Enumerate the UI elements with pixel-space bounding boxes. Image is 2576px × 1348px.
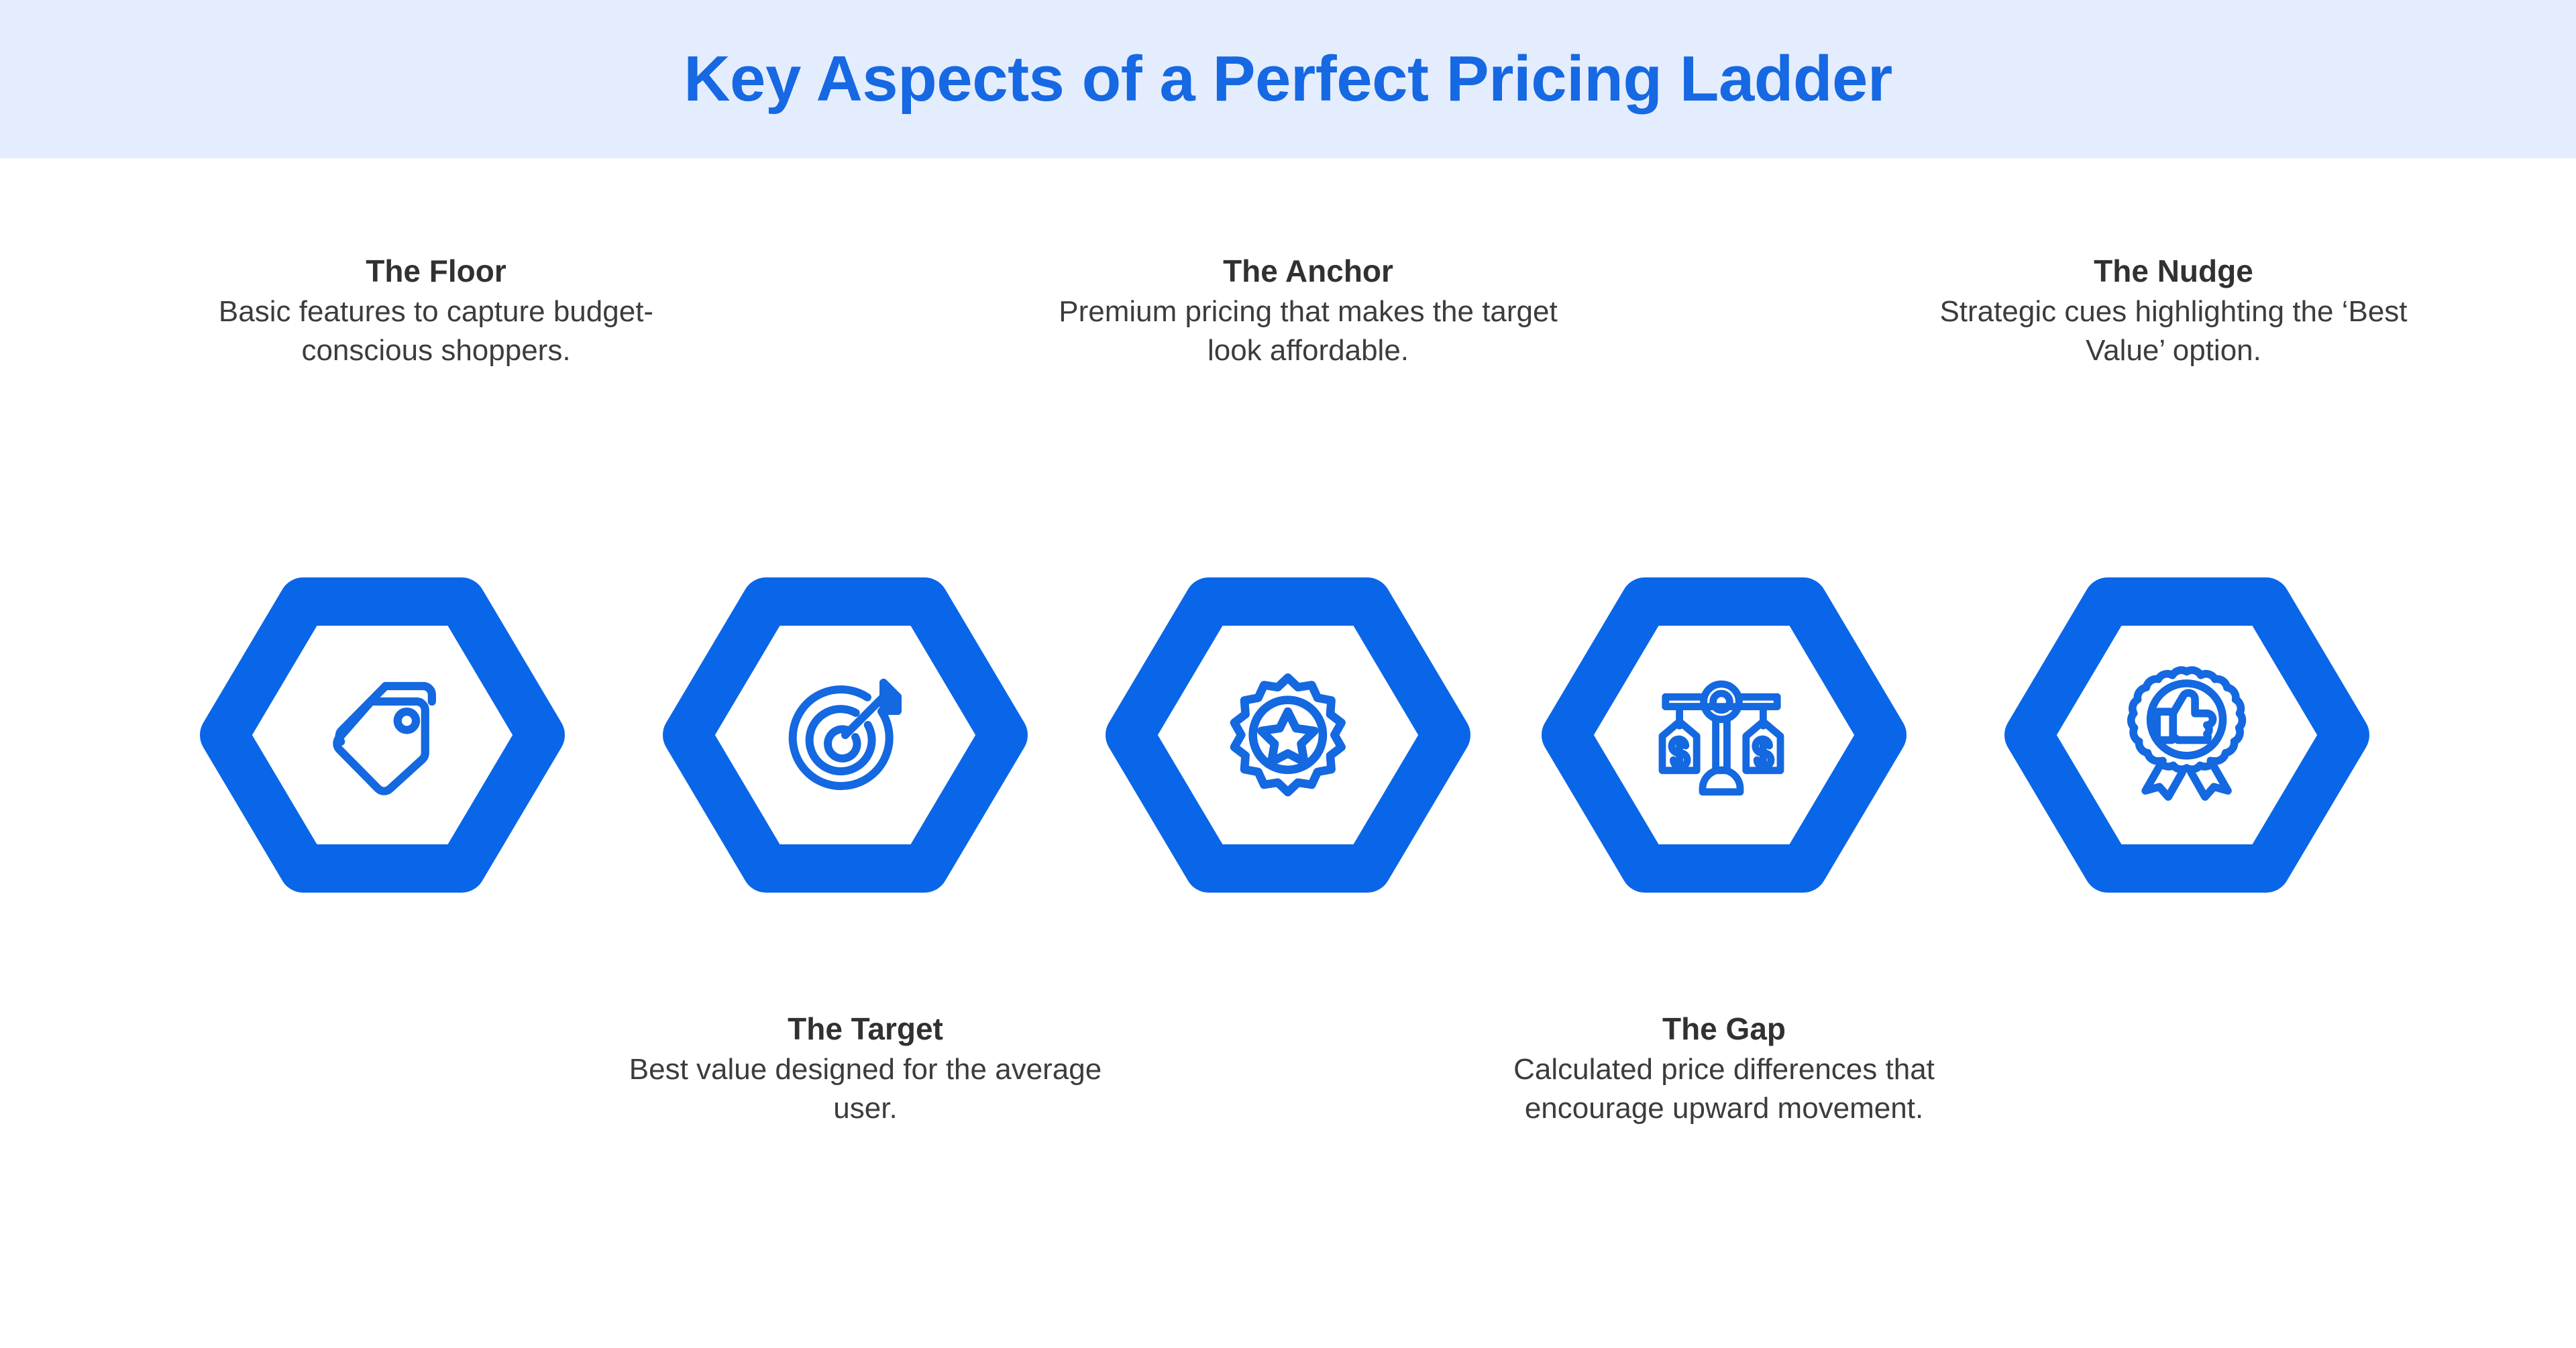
caption-gap: The Gap Calculated price differences tha… (1456, 1010, 1992, 1128)
page-title: Key Aspects of a Perfect Pricing Ladder (684, 47, 1892, 111)
caption-desc-gap: Calculated price differences that encour… (1456, 1050, 1992, 1128)
hexagon-outline (224, 602, 541, 868)
caption-desc-anchor: Premium pricing that makes the target lo… (1053, 292, 1563, 370)
pricing-ladder-diagram: The Floor Basic features to capture budg… (0, 158, 2576, 1348)
caption-floor: The Floor Basic features to capture budg… (181, 252, 691, 370)
hexagon-chain (0, 500, 2576, 970)
hexagon-floor[interactable] (224, 602, 541, 868)
hexagon-outline (2029, 602, 2345, 868)
caption-desc-floor: Basic features to capture budget-conscio… (181, 292, 691, 370)
hexagon-target[interactable] (687, 602, 1004, 868)
hexagon-anchor[interactable] (1130, 602, 1446, 868)
caption-desc-nudge: Strategic cues highlighting the ‘Best Va… (1919, 292, 2428, 370)
caption-title-gap: The Gap (1456, 1010, 1992, 1048)
caption-title-target: The Target (610, 1010, 1120, 1048)
caption-title-nudge: The Nudge (1919, 252, 2428, 290)
hexagon-nudge[interactable] (2029, 602, 2345, 868)
caption-nudge: The Nudge Strategic cues highlighting th… (1919, 252, 2428, 370)
hexagon-outline (1130, 602, 1446, 868)
caption-desc-target: Best value designed for the average user… (610, 1050, 1120, 1128)
infographic-page: Key Aspects of a Perfect Pricing Ladder … (0, 0, 2576, 1348)
caption-title-floor: The Floor (181, 252, 691, 290)
caption-title-anchor: The Anchor (1053, 252, 1563, 290)
caption-target: The Target Best value designed for the a… (610, 1010, 1120, 1128)
header-band: Key Aspects of a Perfect Pricing Ladder (0, 0, 2576, 158)
hexagon-gap[interactable] (1566, 602, 1882, 868)
caption-anchor: The Anchor Premium pricing that makes th… (1053, 252, 1563, 370)
